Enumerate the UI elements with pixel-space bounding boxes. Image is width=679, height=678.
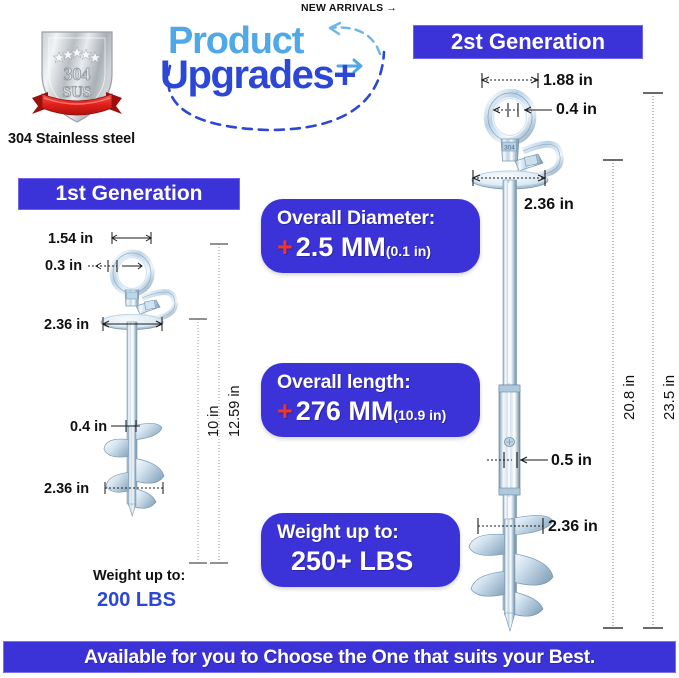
gen1-weight-label: Weight up to:	[93, 568, 185, 584]
gen1-dim-shaft-length: 10 in	[206, 406, 222, 437]
callout-length-value: 276 MM	[296, 396, 394, 426]
gen1-weight-value: 200 LBS	[97, 589, 176, 612]
gen2-dim-ring-thickness: 0.4 in	[556, 101, 597, 119]
gen1-title-text: 1st Generation	[55, 182, 202, 206]
product-upgrades-wordmark: Product Upgrades+	[160, 22, 400, 108]
callout-diameter-value-row: +2.5 MM(0.1 in)	[277, 232, 464, 262]
plus-icon: +	[277, 396, 293, 426]
callout-weight-title: Weight up to:	[277, 522, 444, 544]
gen2-dim-total-length: 23.5 in	[661, 375, 678, 420]
callout-diameter-title: Overall Diameter:	[277, 208, 464, 230]
infographic-canvas: 304 SUS 304 Stainless steel Product Upgr…	[0, 0, 679, 678]
gen2-title-badge: 2st Generation	[413, 25, 643, 59]
new-arrivals-label: NEW ARRIVALS →	[301, 2, 397, 14]
callout-length-unit: (10.9 in)	[393, 407, 446, 423]
gen2-304-stamp: 304	[504, 145, 515, 152]
callout-length-value-row: +276 MM(10.9 in)	[277, 396, 464, 426]
callout-overall-diameter: Overall Diameter: +2.5 MM(0.1 in)	[261, 199, 480, 273]
shield-304-text: 304	[64, 64, 91, 84]
callout-diameter-value: 2.5 MM	[296, 232, 386, 262]
gen1-dim-total-length: 12.59 in	[227, 385, 243, 437]
gen2-anchor-illustration: 304	[455, 85, 585, 630]
gen1-dim-auger-diameter: 2.36 in	[44, 481, 89, 497]
gen2-dim-auger-diameter: 2.36 in	[548, 518, 598, 536]
gen2-dim-shaft-length: 20.8 in	[621, 375, 638, 420]
gen1-dim-plate-diameter: 2.36 in	[44, 317, 89, 333]
bottom-banner-text: Available for you to Choose the One that…	[84, 646, 595, 669]
plus-icon: +	[277, 232, 293, 262]
gen2-title-text: 2st Generation	[451, 29, 605, 55]
gen2-dim-plate-diameter: 2.36 in	[524, 196, 574, 214]
gen1-dim-ring-thickness: 0.3 in	[45, 258, 82, 274]
gen1-dim-ring-width: 1.54 in	[48, 231, 93, 247]
dashed-arc-inner	[330, 28, 380, 54]
gen1-title-badge: 1st Generation	[18, 178, 240, 210]
bottom-banner: Available for you to Choose the One that…	[3, 641, 676, 673]
callout-length-title: Overall length:	[277, 372, 464, 394]
stainless-steel-shield-icon: 304 SUS	[18, 22, 136, 130]
callout-overall-length: Overall length: +276 MM(10.9 in)	[261, 363, 480, 437]
gen1-anchor-illustration	[90, 240, 210, 570]
callout-weight: Weight up to: 250+ LBS	[261, 513, 460, 587]
wordmark-line-upgrades: Upgrades+	[160, 55, 355, 95]
stainless-steel-caption: 304 Stainless steel	[8, 131, 135, 147]
callout-weight-value: 250+ LBS	[277, 546, 444, 576]
callout-diameter-unit: (0.1 in)	[386, 243, 431, 259]
shield-sus-text: SUS	[62, 84, 91, 101]
gen2-dim-shaft-diameter: 0.5 in	[551, 452, 592, 470]
gen2-dim-ring-width: 1.88 in	[543, 72, 593, 90]
gen1-dim-shaft-diameter: 0.4 in	[70, 419, 107, 435]
